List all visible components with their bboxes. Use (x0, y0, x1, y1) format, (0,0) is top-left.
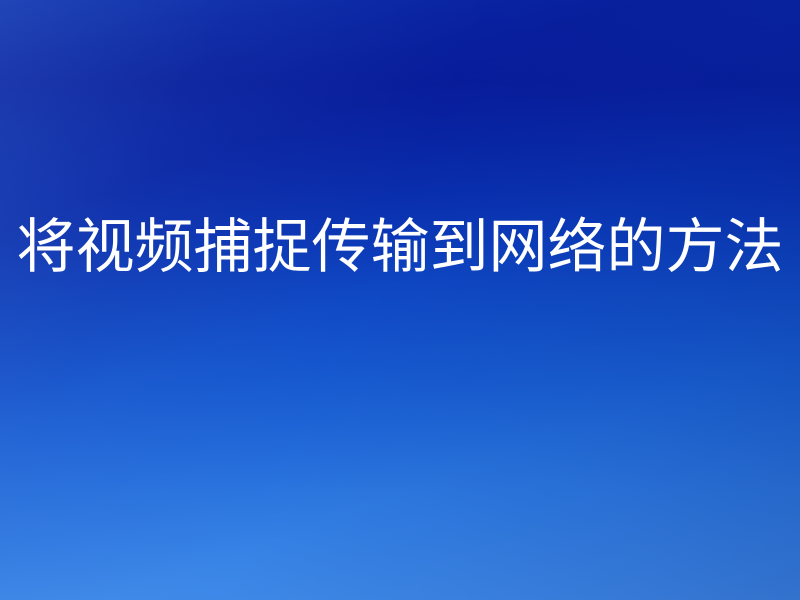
title-block: 将视频捕捉传输到网络的方法 (0, 204, 800, 290)
title-slide: 将视频捕捉传输到网络的方法 (0, 0, 800, 600)
slide-title: 将视频捕捉传输到网络的方法 (10, 217, 789, 277)
slide-background-gradient (0, 0, 800, 600)
